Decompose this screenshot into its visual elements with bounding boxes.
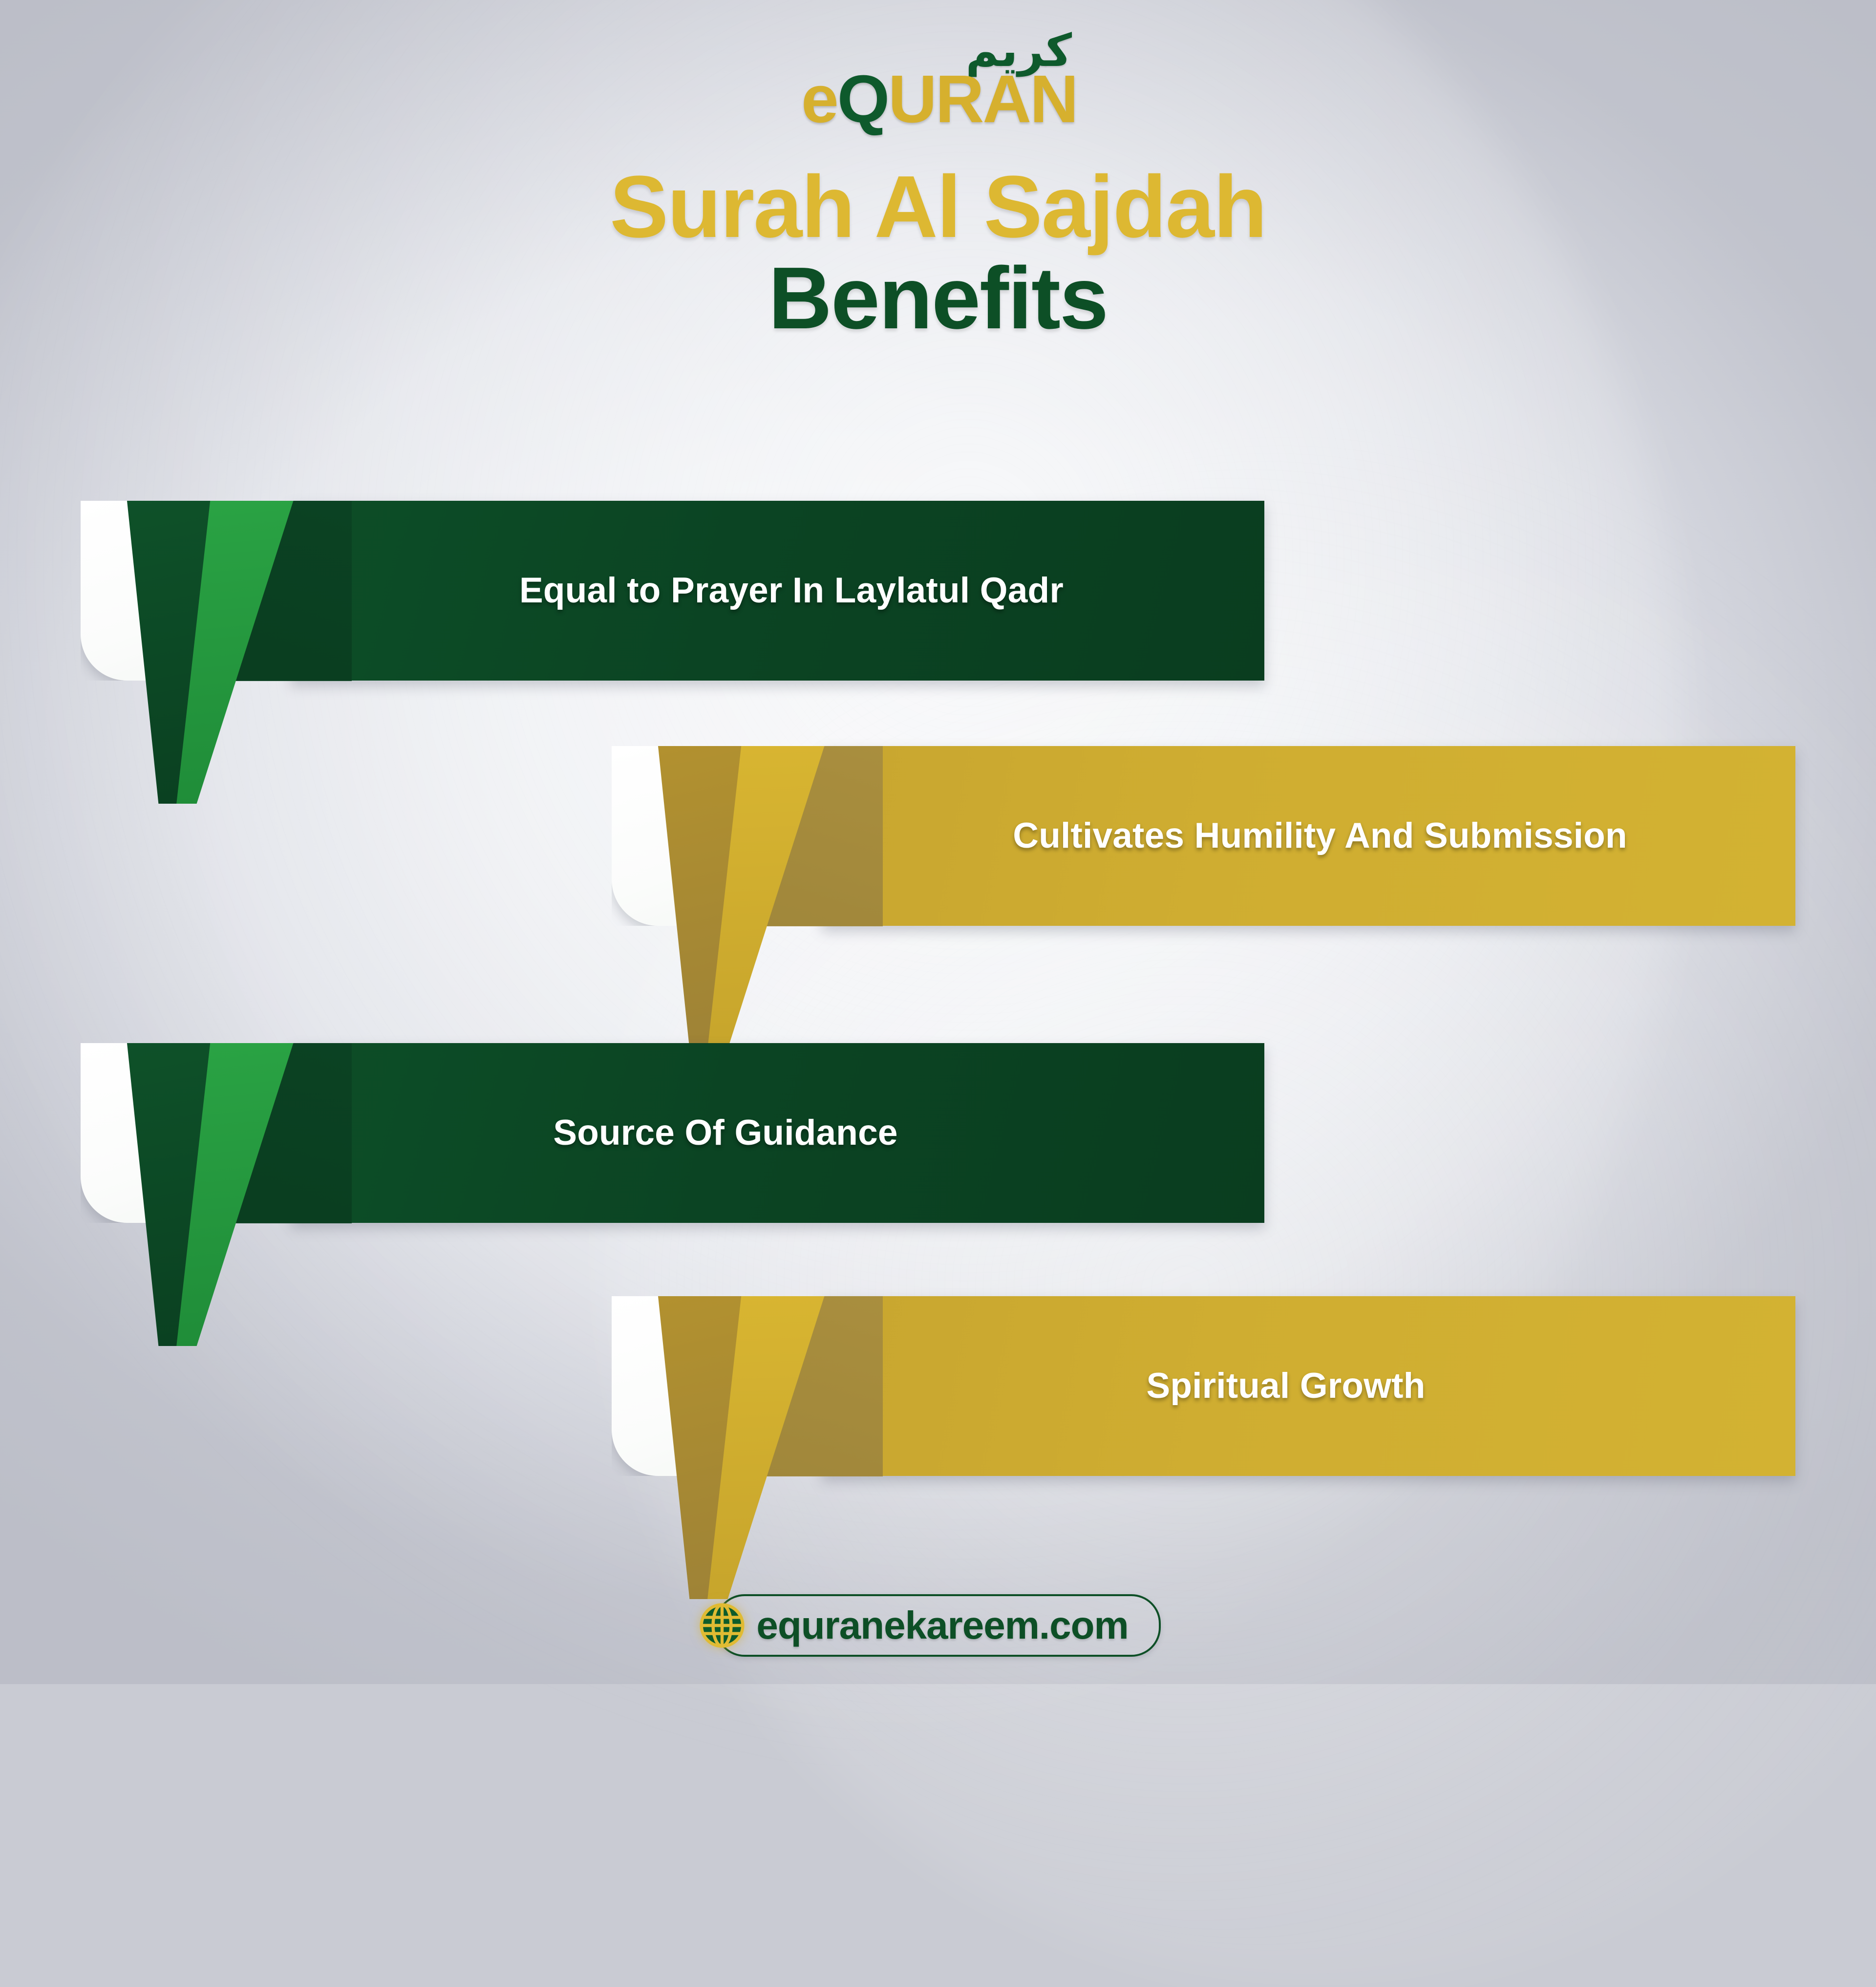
page-title: Surah Al Sajdah Benefits — [0, 161, 1876, 344]
brand-logo: كريم eQURAN — [0, 21, 1876, 133]
benefit-number-4: 4 — [701, 1349, 742, 1423]
benefit-number-1: 1 — [170, 554, 211, 628]
benefit-label-1: Equal to Prayer In Laylatul Qadr — [354, 501, 1229, 681]
benefit-row-1[interactable]: 1 Equal to Prayer In Laylatul Qadr — [81, 501, 1264, 681]
title-line-benefits: Benefits — [0, 253, 1876, 344]
benefit-label-3: Source Of Guidance — [354, 1043, 1097, 1223]
benefit-label-2: Cultivates Humility And Submission — [924, 746, 1716, 926]
globe-icon — [700, 1603, 745, 1648]
benefit-number-3: 3 — [170, 1096, 211, 1170]
title-line-surah: Surah Al Sajdah — [0, 161, 1876, 253]
benefit-row-4[interactable]: 4 Spiritual Growth — [612, 1296, 1795, 1476]
benefit-number-2: 2 — [701, 799, 742, 873]
logo-letters-uran: URAN — [888, 62, 1077, 137]
benefit-row-2[interactable]: 2 Cultivates Humility And Submission — [612, 746, 1795, 926]
website-url[interactable]: equranekareem.com — [756, 1603, 1128, 1648]
benefit-label-4: Spiritual Growth — [905, 1296, 1667, 1476]
benefit-row-3[interactable]: 3 Source Of Guidance — [81, 1043, 1264, 1223]
logo-wordmark: eQURAN — [801, 65, 1077, 133]
website-pill[interactable]: equranekareem.com — [715, 1594, 1160, 1657]
footer: equranekareem.com — [0, 1594, 1876, 1657]
logo-letter-q: Q — [837, 62, 888, 137]
logo-letter-e: e — [801, 62, 837, 137]
